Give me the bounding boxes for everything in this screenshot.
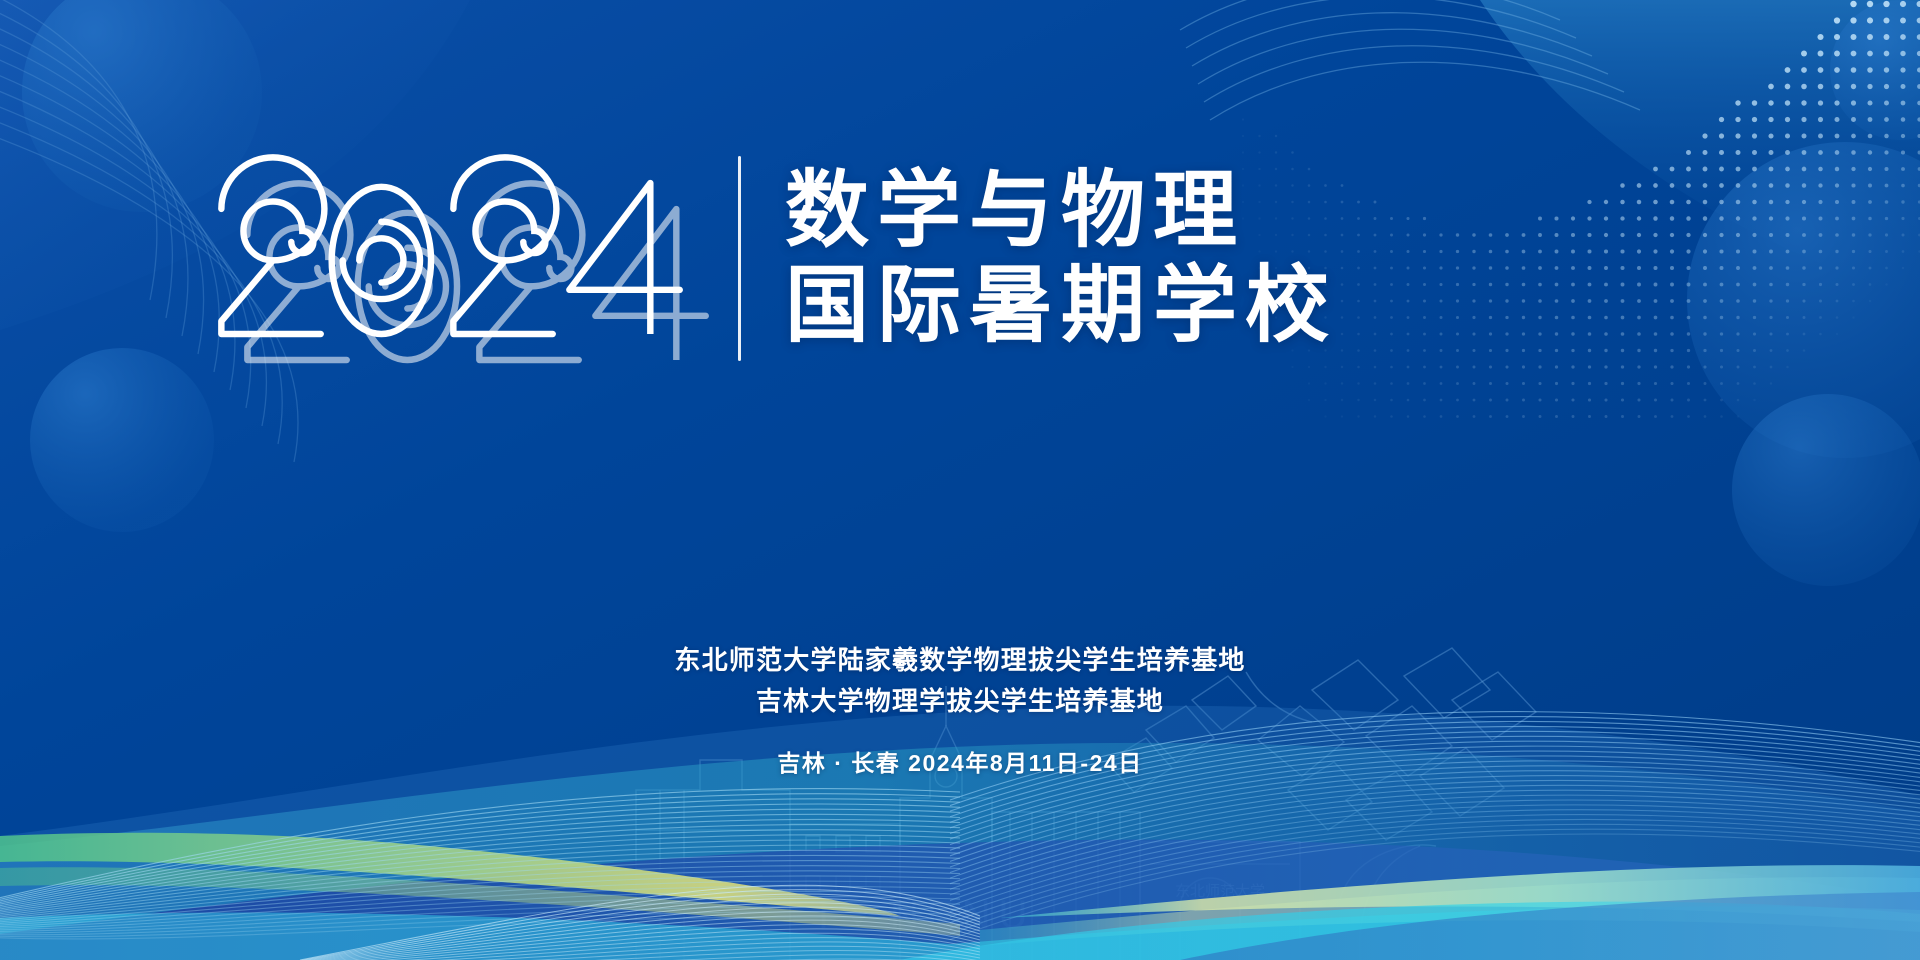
organizer-block: 东北师范大学陆家羲数学物理拔尖学生培养基地 吉林大学物理学拔尖学生培养基地 吉林… bbox=[0, 640, 1920, 778]
poster-canvas: 东北师范大学 I ♥ NENU bbox=[0, 0, 1920, 960]
title-stack: 数学与物理 国际暑期学校 bbox=[785, 166, 1337, 350]
title-divider bbox=[738, 156, 741, 361]
organizer-line-2: 吉林大学物理学拔尖学生培养基地 bbox=[0, 681, 1920, 722]
logo-title-block: 数学与物理 国际暑期学校 bbox=[210, 118, 1710, 398]
venue-date-line: 吉林 · 长春 2024年8月11日-24日 bbox=[0, 744, 1920, 778]
year-2024-logo bbox=[210, 138, 710, 378]
logo-digit-4 bbox=[569, 183, 679, 334]
title-line-1: 数学与物理 bbox=[785, 166, 1337, 255]
organizer-line-1: 东北师范大学陆家羲数学物理拔尖学生培养基地 bbox=[0, 640, 1920, 681]
title-line-2: 国际暑期学校 bbox=[785, 261, 1337, 350]
